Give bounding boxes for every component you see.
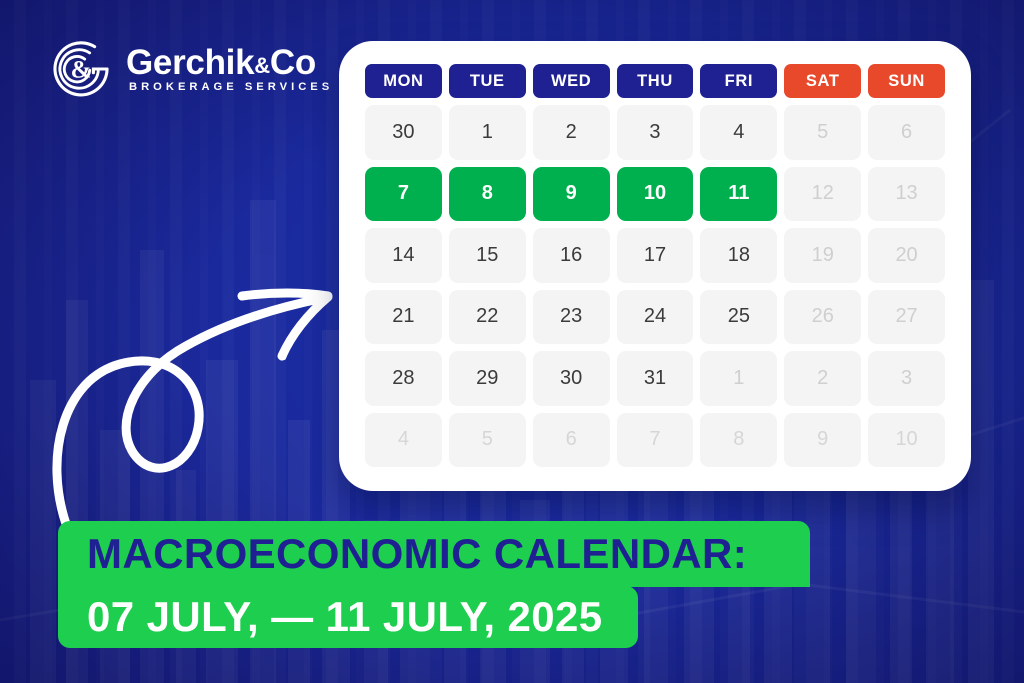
- banner-date-row: 07 JULY, — 11 JULY, 2025: [58, 586, 638, 648]
- day-header-sat: SAT: [784, 64, 861, 98]
- day-cell[interactable]: 2: [784, 351, 861, 406]
- day-cell[interactable]: 30: [533, 351, 610, 406]
- day-cell[interactable]: 4: [365, 413, 442, 468]
- banner-date-range: 07 JULY, — 11 JULY, 2025: [87, 596, 603, 638]
- day-header-wed: WED: [533, 64, 610, 98]
- gerchik-monogram-icon: &: [50, 38, 112, 100]
- day-cell[interactable]: 3: [617, 105, 694, 160]
- day-cell[interactable]: 6: [533, 413, 610, 468]
- day-cell[interactable]: 31: [617, 351, 694, 406]
- day-header-mon: MON: [365, 64, 442, 98]
- day-cell-highlighted[interactable]: 8: [449, 167, 526, 222]
- day-cell[interactable]: 12: [784, 167, 861, 222]
- banner-title: MACROECONOMIC CALENDAR:: [87, 533, 747, 575]
- day-cell[interactable]: 29: [449, 351, 526, 406]
- brand-name-suffix: Co: [270, 43, 316, 82]
- day-cell[interactable]: 23: [533, 290, 610, 345]
- day-header-tue: TUE: [449, 64, 526, 98]
- day-cell[interactable]: 16: [533, 228, 610, 283]
- brand-text: Gerchik&Co BROKERAGE SERVICES: [126, 45, 333, 93]
- day-cell[interactable]: 8: [700, 413, 777, 468]
- brand-logo: & Gerchik&Co BROKERAGE SERVICES: [50, 38, 333, 100]
- calendar-card: MONTUEWEDTHUFRISATSUN3012345678910111213…: [339, 41, 971, 491]
- day-cell[interactable]: 5: [784, 105, 861, 160]
- day-cell[interactable]: 30: [365, 105, 442, 160]
- day-cell[interactable]: 26: [784, 290, 861, 345]
- poster-canvas: & Gerchik&Co BROKERAGE SERVICES MONTUEWE…: [0, 0, 1024, 683]
- hand-drawn-looping-arrow-icon: [46, 268, 356, 528]
- day-cell[interactable]: 21: [365, 290, 442, 345]
- day-cell[interactable]: 14: [365, 228, 442, 283]
- day-cell[interactable]: 22: [449, 290, 526, 345]
- day-header-fri: FRI: [700, 64, 777, 98]
- day-cell-highlighted[interactable]: 10: [617, 167, 694, 222]
- day-cell[interactable]: 7: [617, 413, 694, 468]
- day-cell[interactable]: 17: [617, 228, 694, 283]
- day-cell[interactable]: 9: [784, 413, 861, 468]
- day-cell[interactable]: 1: [700, 351, 777, 406]
- title-banner: MACROECONOMIC CALENDAR: 07 JULY, — 11 JU…: [58, 521, 810, 648]
- brand-tagline: BROKERAGE SERVICES: [126, 82, 333, 93]
- banner-title-row: MACROECONOMIC CALENDAR:: [58, 521, 810, 587]
- day-cell-highlighted[interactable]: 9: [533, 167, 610, 222]
- day-header-sun: SUN: [868, 64, 945, 98]
- day-cell[interactable]: 20: [868, 228, 945, 283]
- day-cell-highlighted[interactable]: 7: [365, 167, 442, 222]
- day-cell[interactable]: 28: [365, 351, 442, 406]
- day-cell[interactable]: 18: [700, 228, 777, 283]
- day-cell[interactable]: 2: [533, 105, 610, 160]
- day-cell[interactable]: 10: [868, 413, 945, 468]
- day-cell[interactable]: 5: [449, 413, 526, 468]
- day-cell[interactable]: 24: [617, 290, 694, 345]
- brand-name-main: Gerchik: [126, 43, 254, 82]
- day-cell[interactable]: 15: [449, 228, 526, 283]
- day-cell[interactable]: 4: [700, 105, 777, 160]
- svg-text:&: &: [71, 57, 92, 84]
- day-cell[interactable]: 3: [868, 351, 945, 406]
- day-cell-highlighted[interactable]: 11: [700, 167, 777, 222]
- day-header-thu: THU: [617, 64, 694, 98]
- day-cell[interactable]: 27: [868, 290, 945, 345]
- brand-name: Gerchik&Co: [126, 45, 333, 80]
- day-cell[interactable]: 25: [700, 290, 777, 345]
- day-cell[interactable]: 13: [868, 167, 945, 222]
- day-cell[interactable]: 1: [449, 105, 526, 160]
- brand-ampersand: &: [254, 53, 270, 78]
- day-cell[interactable]: 19: [784, 228, 861, 283]
- day-cell[interactable]: 6: [868, 105, 945, 160]
- calendar-grid: MONTUEWEDTHUFRISATSUN3012345678910111213…: [365, 64, 945, 467]
